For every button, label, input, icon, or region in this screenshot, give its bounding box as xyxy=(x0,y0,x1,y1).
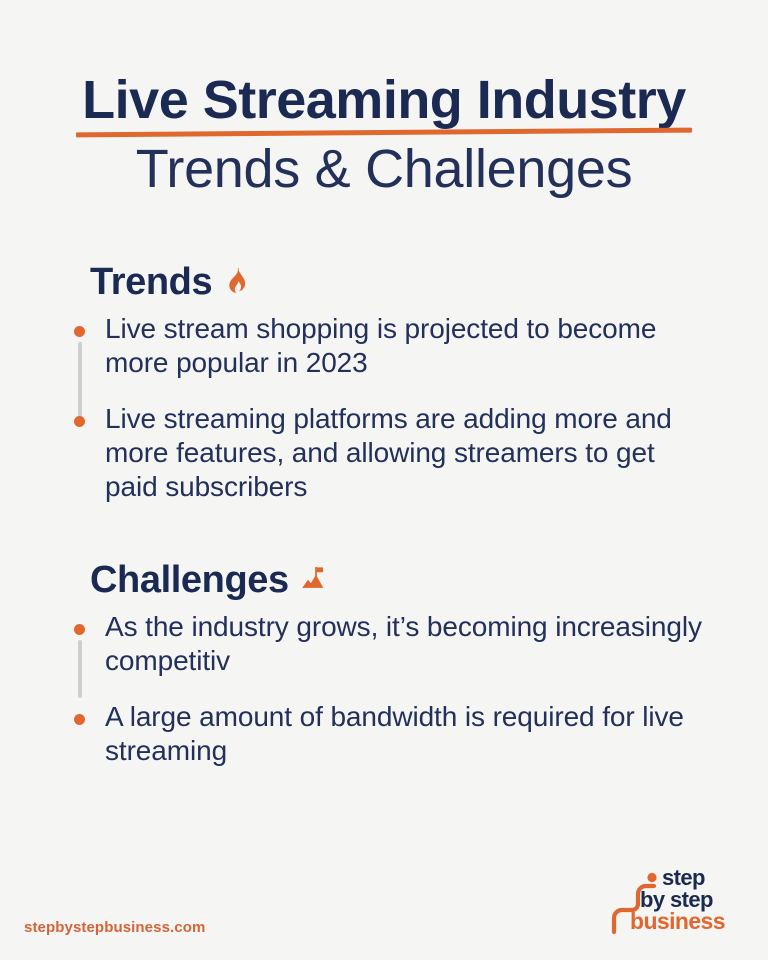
section-challenges: Challenges As the industry grows, it’s b… xyxy=(68,560,708,768)
bullet-dot-icon xyxy=(74,416,85,427)
challenges-bullet-list: As the industry grows, it’s becoming inc… xyxy=(68,610,708,769)
section-trends-header: Trends xyxy=(90,262,708,304)
list-item-text: As the industry grows, it’s becoming inc… xyxy=(105,610,708,678)
mountain-flag-icon xyxy=(299,564,333,598)
section-trends-title: Trends xyxy=(90,262,212,304)
page-title-line2: Trends & Challenges xyxy=(0,139,768,199)
bullet-dot-icon xyxy=(74,326,85,337)
list-item-text: A large amount of bandwidth is required … xyxy=(105,700,708,768)
bullet-dot-icon xyxy=(74,714,85,725)
bullet-dot-icon xyxy=(74,624,85,635)
svg-text:business: business xyxy=(630,908,725,934)
website-url: stepbystepbusiness.com xyxy=(24,919,205,936)
trends-bullet-list: Live stream shopping is projected to bec… xyxy=(68,312,708,505)
list-item: A large amount of bandwidth is required … xyxy=(68,700,708,768)
fire-icon xyxy=(222,266,256,300)
section-challenges-header: Challenges xyxy=(90,560,708,602)
section-challenges-title: Challenges xyxy=(90,560,289,602)
list-item-text: Live streaming platforms are adding more… xyxy=(105,402,708,504)
list-item: Live stream shopping is projected to bec… xyxy=(68,312,708,380)
list-item: Live streaming platforms are adding more… xyxy=(68,402,708,504)
page-title-line1: Live Streaming Industry xyxy=(82,72,686,129)
logo-dot-icon xyxy=(647,873,656,882)
title-line1-wrapper: Live Streaming Industry xyxy=(80,72,688,129)
title-block: Live Streaming Industry Trends & Challen… xyxy=(0,72,768,200)
list-item-text: Live stream shopping is projected to bec… xyxy=(105,312,708,380)
list-item: As the industry grows, it’s becoming inc… xyxy=(68,610,708,678)
brand-logo: step by step business xyxy=(608,862,748,938)
infographic-canvas: Live Streaming Industry Trends & Challen… xyxy=(0,0,768,960)
section-trends: Trends Live stream shopping is projected… xyxy=(68,262,708,505)
